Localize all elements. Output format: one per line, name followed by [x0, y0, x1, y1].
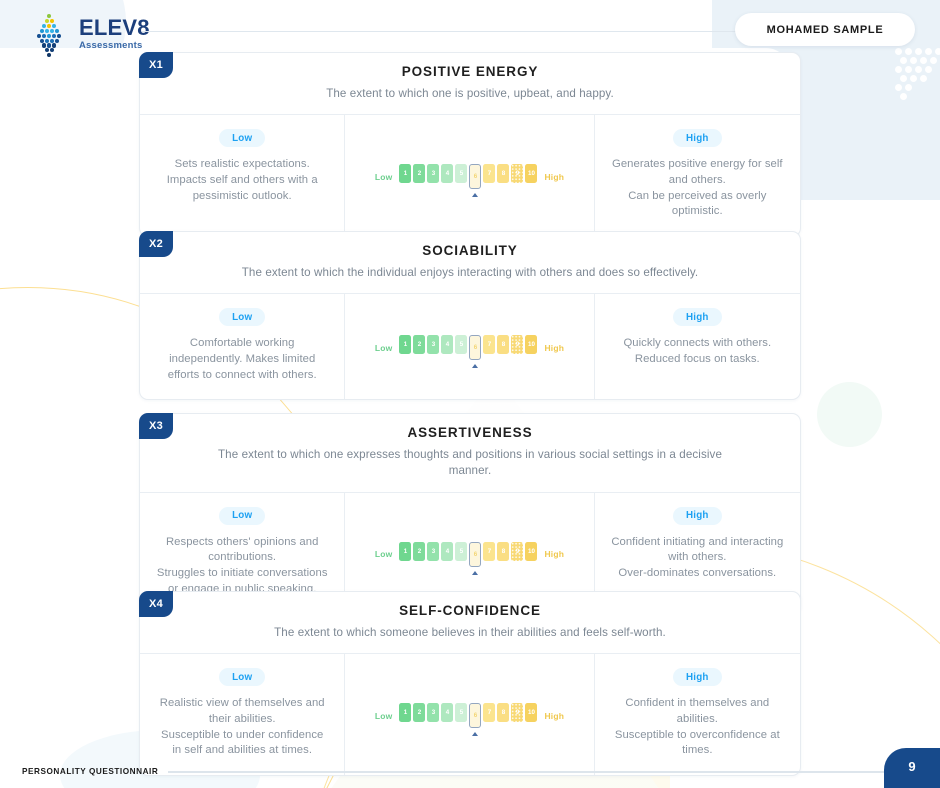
candidate-name-pill: MOHAMED SAMPLE [735, 13, 915, 46]
scale-segment-3[interactable]: 3 [427, 164, 439, 183]
trait-card-header: SOCIABILITYThe extent to which the indiv… [140, 232, 800, 294]
scale-track: 12345678910 [399, 542, 537, 567]
scale-segment-7[interactable]: 7 [483, 164, 495, 183]
scale-low-label: Low [375, 549, 393, 559]
scale-segment-number: 3 [432, 170, 435, 177]
scale-segment-number: 6 [474, 344, 477, 351]
scale-segment-8[interactable]: 8 [497, 164, 509, 183]
score-marker-icon [472, 364, 478, 368]
low-column: LowComfortable working independently. Ma… [140, 294, 345, 399]
high-column: HighConfident in themselves and abilitie… [595, 654, 800, 774]
scale-segment-9[interactable]: 9 [511, 164, 523, 183]
score-marker-icon [472, 193, 478, 197]
low-badge: Low [219, 308, 265, 326]
scale-segment-4[interactable]: 4 [441, 164, 453, 183]
footer-divider [168, 771, 890, 773]
low-description: Realistic view of themselves and their a… [156, 696, 328, 758]
high-column: HighGenerates positive energy for self a… [595, 115, 800, 235]
scale-segment-8[interactable]: 8 [497, 542, 509, 561]
scale-segment-number: 1 [404, 341, 407, 348]
trait-tag-badge: X1 [139, 52, 173, 78]
scale-segment-number: 5 [460, 548, 463, 555]
scale-segment-number: 5 [460, 341, 463, 348]
high-badge: High [673, 668, 722, 686]
scale-segment-number: 4 [446, 709, 449, 716]
scale-segment-number: 8 [502, 170, 505, 177]
scale-segment-number: 9 [516, 709, 519, 716]
scale-segment-number: 5 [460, 170, 463, 177]
scale-segment-number: 9 [516, 170, 519, 177]
scale-low-label: Low [375, 343, 393, 353]
high-description: Generates positive energy for self and o… [611, 157, 784, 219]
high-description: Quickly connects with others.Reduced foc… [623, 336, 771, 367]
trait-card-header: ASSERTIVENESSThe extent to which one exp… [140, 414, 800, 493]
scale-segment-5[interactable]: 5 [455, 164, 467, 183]
score-scale: Low12345678910High [375, 164, 564, 189]
trait-description: The extent to which one is positive, upb… [210, 86, 730, 102]
scale-segment-9[interactable]: 9 [511, 542, 523, 561]
scale-segment-number: 6 [474, 712, 477, 719]
scale-segment-7[interactable]: 7 [483, 703, 495, 722]
scale-segment-4[interactable]: 4 [441, 542, 453, 561]
page-header: ELEV8 Assessments MOHAMED SAMPLE [0, 0, 940, 58]
scale-segment-number: 1 [404, 709, 407, 716]
scale-segment-number: 2 [418, 709, 421, 716]
scale-high-label: High [544, 549, 564, 559]
trait-tag-badge: X2 [139, 231, 173, 257]
scale-high-label: High [544, 343, 564, 353]
scale-segment-number: 1 [404, 548, 407, 555]
scale-segment-number: 9 [516, 341, 519, 348]
brand-name: ELEV8 [79, 17, 150, 39]
score-scale: Low12345678910High [375, 335, 564, 360]
scale-segment-number: 2 [418, 341, 421, 348]
footer-label: PERSONALITY QUESTIONNAIR [22, 767, 158, 776]
scale-segment-number: 8 [502, 709, 505, 716]
trait-card-x4: X4SELF-CONFIDENCEThe extent to which som… [139, 591, 801, 776]
brand-logo: ELEV8 Assessments [24, 11, 150, 57]
trait-card-x2: X2SOCIABILITYThe extent to which the ind… [139, 231, 801, 400]
high-column: HighQuickly connects with others.Reduced… [595, 294, 800, 399]
low-description: Respects others' opinions and contributi… [156, 535, 328, 597]
scale-segment-number: 4 [446, 170, 449, 177]
score-scale-column: Low12345678910High [345, 115, 594, 235]
trait-title: SELF-CONFIDENCE [210, 603, 730, 618]
scale-segment-number: 7 [488, 548, 491, 555]
scale-segment-8[interactable]: 8 [497, 703, 509, 722]
scale-segment-10[interactable]: 10 [525, 703, 537, 722]
scale-segment-6[interactable]: 6 [469, 703, 481, 728]
scale-segment-number: 9 [516, 548, 519, 555]
scale-segment-6[interactable]: 6 [469, 542, 481, 567]
score-marker-icon [472, 571, 478, 575]
scale-segment-9[interactable]: 9 [511, 335, 523, 354]
trait-card-body: LowRealistic view of themselves and thei… [140, 654, 800, 774]
scale-segment-8[interactable]: 8 [497, 335, 509, 354]
diamond-dot-grid-logo-icon [24, 11, 70, 57]
low-column: LowSets realistic expectations.Impacts s… [140, 115, 345, 235]
scale-segment-2[interactable]: 2 [413, 542, 425, 561]
low-badge: Low [219, 507, 265, 525]
scale-segment-number: 6 [474, 173, 477, 180]
scale-segment-number: 10 [528, 341, 535, 348]
scale-low-label: Low [375, 711, 393, 721]
scale-segment-number: 6 [474, 551, 477, 558]
scale-segment-number: 7 [488, 341, 491, 348]
brand-subtitle: Assessments [79, 41, 150, 51]
scale-track: 12345678910 [399, 164, 537, 189]
scale-segment-number: 5 [460, 709, 463, 716]
scale-segment-1[interactable]: 1 [399, 335, 411, 354]
scale-segment-number: 4 [446, 548, 449, 555]
scale-segment-6[interactable]: 6 [469, 335, 481, 360]
scale-segment-10[interactable]: 10 [525, 164, 537, 183]
low-description: Comfortable working independently. Makes… [156, 336, 328, 383]
scale-segment-10[interactable]: 10 [525, 335, 537, 354]
low-description: Sets realistic expectations.Impacts self… [156, 157, 328, 204]
trait-description: The extent to which someone believes in … [210, 625, 730, 641]
high-badge: High [673, 507, 722, 525]
scale-segment-9[interactable]: 9 [511, 703, 523, 722]
score-scale: Low12345678910High [375, 703, 564, 728]
report-page: ELEV8 Assessments MOHAMED SAMPLE X1POSIT… [0, 0, 940, 788]
low-badge: Low [219, 668, 265, 686]
scale-segment-2[interactable]: 2 [413, 335, 425, 354]
trait-card-body: LowSets realistic expectations.Impacts s… [140, 115, 800, 235]
scale-segment-4[interactable]: 4 [441, 703, 453, 722]
scale-segment-7[interactable]: 7 [483, 542, 495, 561]
scale-segment-1[interactable]: 1 [399, 164, 411, 183]
scale-segment-number: 8 [502, 548, 505, 555]
scale-segment-number: 8 [502, 341, 505, 348]
scale-track: 12345678910 [399, 335, 537, 360]
trait-title: POSITIVE ENERGY [210, 64, 730, 79]
scale-low-label: Low [375, 172, 393, 182]
scale-segment-number: 10 [528, 170, 535, 177]
scale-high-label: High [544, 172, 564, 182]
trait-tag-badge: X3 [139, 413, 173, 439]
low-column: LowRealistic view of themselves and thei… [140, 654, 345, 774]
scale-segment-number: 3 [432, 709, 435, 716]
trait-card-header: SELF-CONFIDENCEThe extent to which someo… [140, 592, 800, 654]
scale-segment-5[interactable]: 5 [455, 542, 467, 561]
scale-segment-5[interactable]: 5 [455, 703, 467, 722]
scale-segment-10[interactable]: 10 [525, 542, 537, 561]
trait-card-x1: X1POSITIVE ENERGYThe extent to which one… [139, 52, 801, 237]
high-description: Confident initiating and interacting wit… [611, 535, 784, 582]
trait-title: ASSERTIVENESS [210, 425, 730, 440]
scale-segment-number: 4 [446, 341, 449, 348]
scale-segment-6[interactable]: 6 [469, 164, 481, 189]
bg-mint-circle [817, 382, 882, 447]
scale-segment-1[interactable]: 1 [399, 542, 411, 561]
trait-card-x3: X3ASSERTIVENESSThe extent to which one e… [139, 413, 801, 614]
scale-segment-3[interactable]: 3 [427, 542, 439, 561]
scale-segment-number: 2 [418, 548, 421, 555]
scale-segment-number: 3 [432, 341, 435, 348]
header-divider [142, 31, 742, 32]
scale-segment-number: 3 [432, 548, 435, 555]
scale-segment-3[interactable]: 3 [427, 335, 439, 354]
high-badge: High [673, 129, 722, 147]
scale-segment-number: 10 [528, 548, 535, 555]
scale-segment-2[interactable]: 2 [413, 164, 425, 183]
trait-title: SOCIABILITY [210, 243, 730, 258]
low-badge: Low [219, 129, 265, 147]
brand-wordmark: ELEV8 Assessments [79, 17, 150, 51]
scale-segment-2[interactable]: 2 [413, 703, 425, 722]
score-marker-icon [472, 732, 478, 736]
scale-segment-1[interactable]: 1 [399, 703, 411, 722]
trait-tag-badge: X4 [139, 591, 173, 617]
scale-segment-number: 7 [488, 170, 491, 177]
trait-description: The extent to which one expresses though… [210, 447, 730, 480]
scale-segment-5[interactable]: 5 [455, 335, 467, 354]
scale-segment-number: 2 [418, 170, 421, 177]
trait-card-header: POSITIVE ENERGYThe extent to which one i… [140, 53, 800, 115]
high-badge: High [673, 308, 722, 326]
page-number-badge: 9 [884, 748, 940, 788]
scale-segment-number: 7 [488, 709, 491, 716]
scale-segment-number: 10 [528, 709, 535, 716]
high-description: Confident in themselves and abilities.Su… [611, 696, 784, 758]
trait-card-body: LowComfortable working independently. Ma… [140, 294, 800, 399]
scale-track: 12345678910 [399, 703, 537, 728]
scale-high-label: High [544, 711, 564, 721]
score-scale-column: Low12345678910High [345, 294, 594, 399]
trait-description: The extent to which the individual enjoy… [210, 265, 730, 281]
scale-segment-4[interactable]: 4 [441, 335, 453, 354]
scale-segment-7[interactable]: 7 [483, 335, 495, 354]
scale-segment-3[interactable]: 3 [427, 703, 439, 722]
score-scale: Low12345678910High [375, 542, 564, 567]
scale-segment-number: 1 [404, 170, 407, 177]
score-scale-column: Low12345678910High [345, 654, 594, 774]
